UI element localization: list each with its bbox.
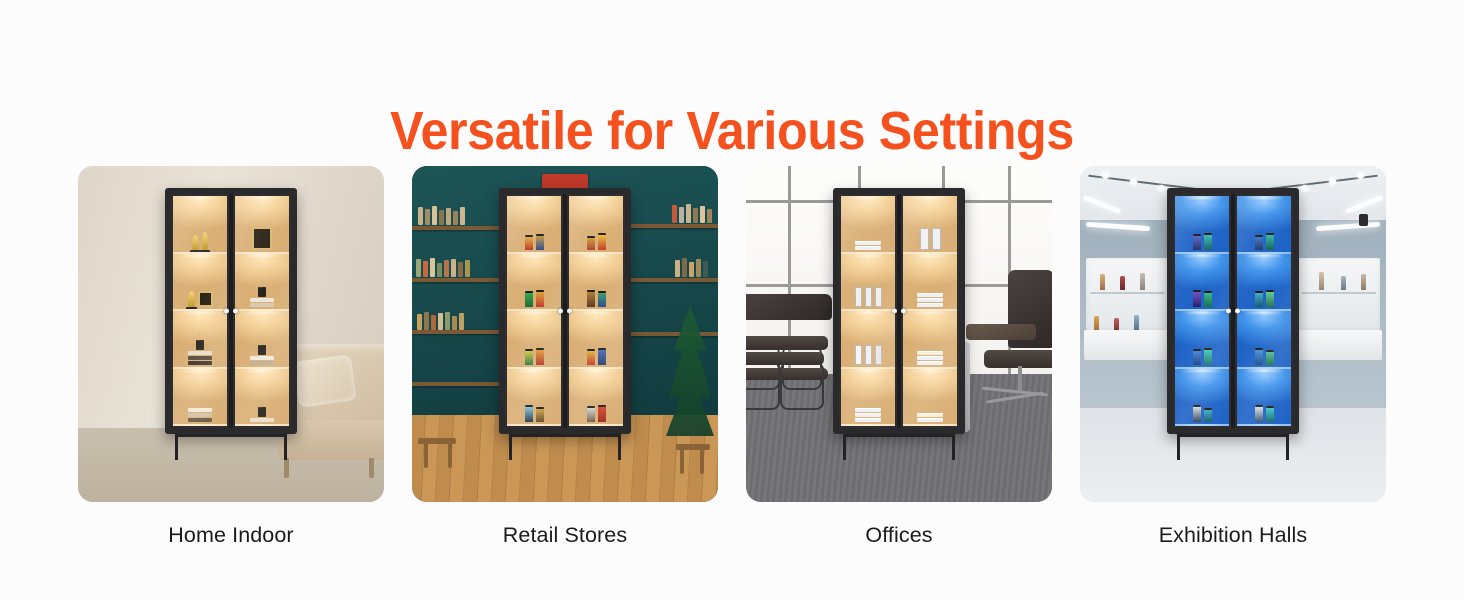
spotlight [1357, 172, 1364, 179]
knob-icon [567, 309, 572, 314]
scene-card-exhibition-halls[interactable]: Exhibition Halls [1080, 166, 1386, 502]
figurine [525, 235, 533, 250]
shelf [1175, 254, 1229, 312]
alcove-shelf [1090, 292, 1164, 294]
shelf [569, 369, 623, 427]
shelf [173, 369, 227, 427]
stool-leg [448, 442, 452, 468]
shelf [841, 369, 895, 427]
shelf [1237, 196, 1291, 254]
picture-frame [252, 227, 272, 250]
cabinet-body [833, 188, 965, 434]
shelf-board [618, 278, 718, 282]
book-stack [188, 408, 212, 422]
book [250, 418, 274, 422]
document-stack [917, 351, 943, 365]
leg-crossbar [1177, 434, 1289, 437]
document-tray [917, 351, 943, 355]
document-stack [855, 241, 881, 250]
reed-diffuser [196, 340, 204, 350]
shelf [903, 254, 957, 312]
book [250, 356, 274, 360]
shelf [569, 311, 623, 369]
shelf [1175, 196, 1229, 254]
cabinet-door-knobs[interactable] [558, 309, 572, 314]
product-row [417, 312, 464, 330]
figurine [598, 348, 606, 365]
reed-diffuser [258, 287, 266, 297]
ring-binder [920, 228, 929, 250]
document-tray [855, 413, 881, 417]
scene-photo-retail-stores [412, 166, 718, 502]
reed-diffuser [258, 407, 266, 417]
figurine [536, 290, 544, 307]
cabinet-body [499, 188, 631, 434]
cabinet-door-right [567, 194, 625, 428]
shelf-board [412, 226, 508, 230]
stool-leg [424, 442, 428, 468]
ring-binder [932, 228, 941, 250]
scene-card-home-indoor[interactable]: Home Indoor [78, 166, 384, 502]
shelf [173, 311, 227, 369]
cabinet-door-left [505, 194, 563, 428]
exhibit-figurine [1094, 316, 1099, 330]
exhibit-figurine [1114, 318, 1119, 330]
cabinet-legs [167, 434, 295, 460]
display-alcove [1298, 258, 1380, 330]
spotlight [1329, 178, 1336, 185]
shelf [841, 254, 895, 312]
figurine [525, 405, 533, 422]
knob-icon [224, 309, 229, 314]
book-stack [250, 345, 274, 365]
product-feature-banner: Versatile for Various Settings [0, 0, 1464, 600]
shelf [1237, 254, 1291, 312]
exhibit-figurine [1134, 315, 1139, 330]
cabinet-door-knobs[interactable] [892, 309, 906, 314]
reed-diffuser [258, 345, 266, 355]
sofa-leg [284, 458, 289, 478]
product-row [672, 204, 712, 223]
figurine [1193, 349, 1201, 365]
figurine [1255, 348, 1263, 365]
display-plinth [1084, 330, 1174, 360]
cabinet-leg [952, 434, 955, 460]
leg-crossbar [509, 434, 621, 437]
scene-illustration-retail-store [412, 166, 718, 502]
book [188, 408, 212, 412]
cabinet-door-right [1235, 194, 1293, 428]
exhibit-figurine [1140, 273, 1145, 290]
figurine [1204, 348, 1212, 365]
shelf [235, 196, 289, 254]
figurine [1255, 291, 1263, 307]
shelf [507, 196, 561, 254]
figurine [1204, 408, 1212, 422]
figurine [1255, 235, 1263, 250]
shelf [1175, 369, 1229, 427]
scene-illustration-exhibition-hall [1080, 166, 1386, 502]
spotlight [1301, 185, 1308, 192]
scene-photo-home-indoor [78, 166, 384, 502]
wall-speaker [1359, 214, 1368, 226]
figurine [1193, 405, 1201, 422]
cabinet-legs [835, 434, 963, 460]
cabinet-leg [1286, 434, 1289, 460]
ring-binder [855, 345, 862, 365]
cabinet-door-right [901, 194, 959, 428]
exhibit-figurine [1120, 276, 1125, 290]
document-stack [917, 293, 943, 307]
office-chair [964, 270, 1052, 420]
shelf [1175, 311, 1229, 369]
shelf [507, 254, 561, 312]
cabinet-door-left [171, 194, 229, 428]
figurine [1266, 350, 1274, 365]
shelf [507, 311, 561, 369]
trophy [188, 291, 195, 307]
scene-caption-exhibition-halls: Exhibition Halls [1080, 522, 1386, 548]
document-stack [917, 413, 943, 422]
knob-icon [558, 309, 563, 314]
waiting-chairs [746, 352, 828, 432]
knob-icon [901, 309, 906, 314]
spotlight [1158, 185, 1165, 192]
ring-binder [855, 287, 862, 307]
alcove-shelf [1302, 292, 1376, 294]
ring-binder [875, 345, 882, 365]
shelf [841, 196, 895, 254]
book [250, 361, 274, 365]
figurine [1255, 405, 1263, 422]
trophy [192, 235, 199, 250]
chair-base [986, 391, 1044, 403]
shelf [569, 254, 623, 312]
cabinet-leg [1177, 434, 1180, 460]
cabinet-body [165, 188, 297, 434]
figurine [1266, 406, 1274, 422]
page-title: Versatile for Various Settings [51, 102, 1413, 160]
display-cabinet [165, 188, 297, 460]
document-tray [855, 241, 881, 245]
figurine [536, 407, 544, 422]
shelf-board [618, 224, 718, 228]
exhibit-figurine [1341, 276, 1346, 290]
shelf-board [618, 332, 718, 336]
figurine [525, 349, 533, 365]
figurine [1204, 291, 1212, 307]
shelf [235, 369, 289, 427]
sofa-cushion [293, 354, 357, 408]
exhibit-figurine [1361, 274, 1366, 290]
document-tray [917, 413, 943, 417]
chair-arm [746, 362, 780, 410]
display-cabinet [833, 188, 965, 460]
leg-crossbar [843, 434, 955, 437]
spotlight [1130, 178, 1137, 185]
knob-icon [1226, 309, 1231, 314]
figurine [587, 290, 595, 307]
cabinet-door-right [233, 194, 291, 428]
cabinet-door-knobs[interactable] [224, 309, 238, 314]
cabinet-leg [618, 434, 621, 460]
scene-card-retail-stores[interactable]: Retail Stores [412, 166, 718, 502]
shelf [903, 311, 957, 369]
knob-icon [892, 309, 897, 314]
cabinet-leg [843, 434, 846, 460]
shelf [235, 311, 289, 369]
figurine [1266, 233, 1274, 250]
shelf-board [412, 330, 508, 334]
shelf [1237, 369, 1291, 427]
document-stack [855, 408, 881, 422]
figurine [1266, 290, 1274, 307]
shelf [173, 254, 227, 312]
side-chair [966, 324, 1036, 340]
display-cabinet [499, 188, 631, 460]
scene-illustration-office [746, 166, 1052, 502]
figurine [598, 291, 606, 307]
scene-illustration-living-room [78, 166, 384, 502]
chair-arm [780, 362, 824, 410]
shelf [173, 196, 227, 254]
knob-icon [233, 309, 238, 314]
figurine [1204, 233, 1212, 250]
document-tray [855, 246, 881, 250]
shelf [235, 254, 289, 312]
figurine [598, 405, 606, 422]
ring-binder [865, 287, 872, 307]
shelf [1237, 311, 1291, 369]
figurine [1193, 290, 1201, 307]
document-tray [917, 293, 943, 297]
ring-binder [875, 287, 882, 307]
cabinet-leg [284, 434, 287, 460]
stool-leg [680, 448, 684, 474]
scene-caption-retail-stores: Retail Stores [412, 522, 718, 548]
stool-leg [700, 448, 704, 474]
cabinet-door-knobs[interactable] [1226, 309, 1240, 314]
shelf [569, 196, 623, 254]
cabinet-door-left [839, 194, 897, 428]
cabinet-body [1167, 188, 1299, 434]
book-stack [250, 407, 274, 422]
cabinet-leg [509, 434, 512, 460]
document-tray [855, 418, 881, 422]
knob-icon [1235, 309, 1240, 314]
spotlight [1102, 172, 1109, 179]
scene-caption-offices: Offices [746, 522, 1052, 548]
cabinet-leg [175, 434, 178, 460]
document-tray [917, 356, 943, 360]
document-tray [917, 361, 943, 365]
picture-frame [198, 291, 213, 307]
book [188, 351, 212, 355]
figurine [598, 233, 606, 250]
document-tray [855, 408, 881, 412]
figurine [587, 236, 595, 250]
scene-caption-home-indoor: Home Indoor [78, 522, 384, 548]
document-tray [917, 298, 943, 302]
scene-photo-offices [746, 166, 1052, 502]
shelf [507, 369, 561, 427]
scene-photo-exhibition-halls [1080, 166, 1386, 502]
book [188, 418, 212, 422]
scene-grid: Home Indoor [78, 166, 1386, 502]
shelf [903, 196, 957, 254]
book [188, 413, 212, 417]
figurine [587, 406, 595, 422]
figurine [525, 291, 533, 307]
book-stack [188, 340, 212, 365]
display-plinth [1292, 330, 1382, 360]
shelf [903, 369, 957, 427]
exhibit-figurine [1319, 272, 1324, 290]
figurine [536, 234, 544, 250]
product-row [416, 258, 470, 277]
shelf-board [412, 278, 508, 282]
trophy [202, 232, 208, 250]
book [250, 303, 274, 307]
leg-crossbar [175, 434, 287, 437]
document-tray [917, 418, 943, 422]
figurine [1193, 234, 1201, 250]
figurine [536, 348, 544, 365]
chair-post [1018, 366, 1022, 392]
cabinet-legs [501, 434, 629, 460]
product-row [418, 206, 465, 225]
chair-backrest [746, 294, 832, 320]
book [188, 361, 212, 365]
sofa-leg [369, 458, 374, 478]
shelf-board [412, 382, 508, 386]
document-tray [917, 303, 943, 307]
scene-card-offices[interactable]: Offices [746, 166, 1052, 502]
book [188, 356, 212, 360]
book [250, 298, 274, 302]
book-stack [250, 287, 274, 307]
exhibit-figurine [1100, 274, 1105, 290]
shelf [841, 311, 895, 369]
cabinet-door-left [1173, 194, 1231, 428]
product-row [675, 258, 708, 277]
cabinet-legs [1169, 434, 1297, 460]
figurine [587, 349, 595, 365]
display-cabinet [1167, 188, 1299, 460]
ring-binder [865, 345, 872, 365]
